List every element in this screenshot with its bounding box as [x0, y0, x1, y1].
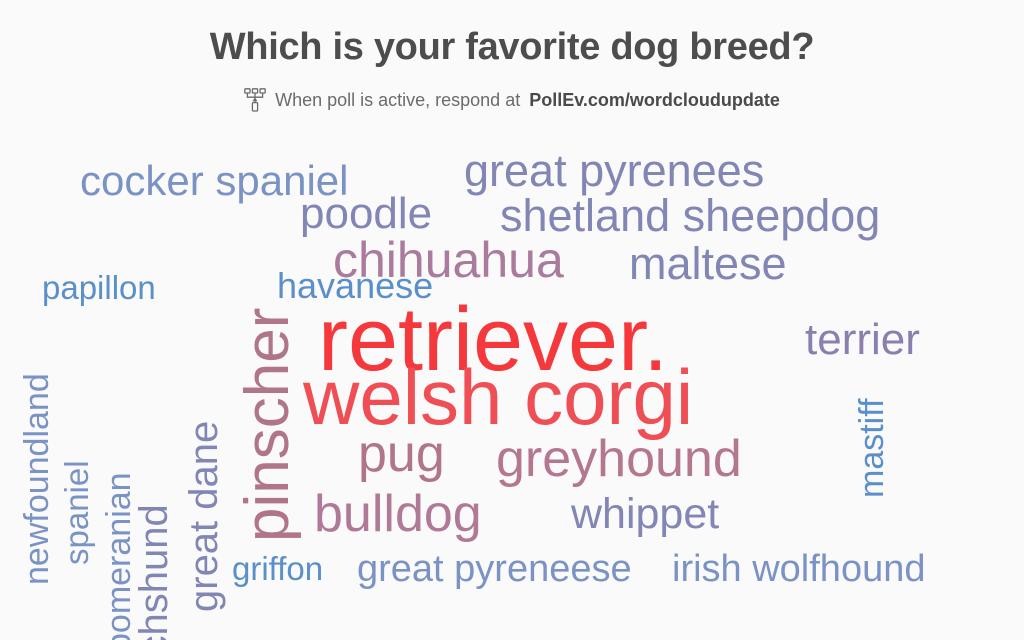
cloud-word: maltese [629, 241, 787, 286]
cloud-word: whippet [571, 493, 719, 536]
cloud-word: papillon [42, 271, 156, 304]
cloud-word: greyhound [496, 433, 742, 485]
cloud-word: newfoundland [20, 373, 54, 585]
cloud-word: spaniel [60, 460, 93, 565]
instruction-text: When poll is active, respond at [275, 91, 520, 109]
cloud-word: great dane [184, 421, 224, 612]
poll-slide: Which is your favorite dog breed? [0, 0, 1024, 640]
cloud-word: poodle [300, 192, 432, 236]
cloud-word: dachshund [134, 504, 174, 640]
cloud-word: griffon [232, 552, 323, 585]
poll-header: Which is your favorite dog breed? [0, 0, 1024, 112]
cloud-word: bulldog [314, 488, 482, 540]
devices-network-icon [244, 88, 266, 112]
cloud-word: havanese [277, 268, 433, 304]
cloud-word: pinscher [237, 308, 299, 542]
cloud-word: great pyrenees [464, 148, 764, 193]
cloud-word: terrier [805, 318, 920, 362]
cloud-word: mastiff [855, 398, 889, 498]
poll-instruction: When poll is active, respond at PollEv.c… [0, 69, 1024, 112]
cloud-word: pomeranian [102, 472, 136, 640]
cloud-word: great pyreneese [357, 550, 632, 588]
cloud-word: shetland sheepdog [500, 193, 880, 238]
word-cloud: retriever.welsh corgipinschergreyhoundbu… [0, 140, 1024, 640]
cloud-word: pug [358, 428, 445, 480]
page-title: Which is your favorite dog breed? [0, 0, 1024, 69]
poll-url: PollEv.com/wordcloudupdate [529, 91, 780, 109]
cloud-word: irish wolfhound [672, 550, 925, 588]
